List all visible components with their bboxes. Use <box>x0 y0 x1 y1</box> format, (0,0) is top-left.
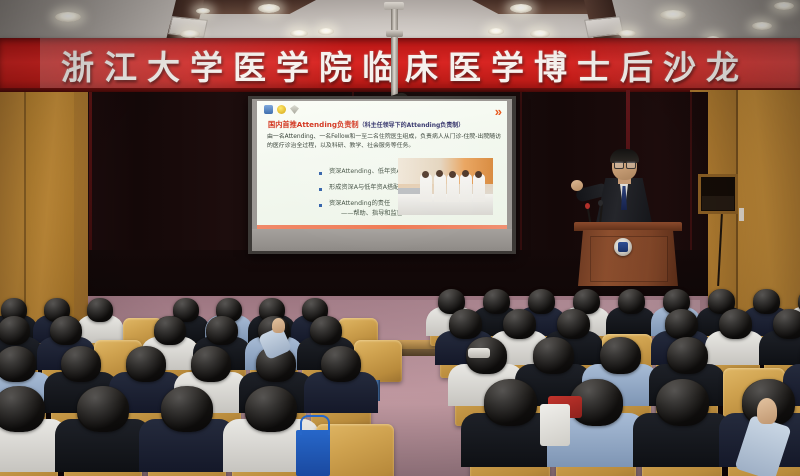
white-coat-on-seat <box>540 404 570 446</box>
audience-row-8 <box>0 0 800 476</box>
raised-hand <box>757 398 777 424</box>
hair-highlight <box>484 379 537 426</box>
shoe <box>468 348 490 358</box>
hair-highlight <box>656 379 709 426</box>
tote-bag-handle <box>300 415 330 435</box>
lecture-hall-photo: 浙江大学医学院临床医学博士后沙龙 » 国内首推Attending负责制（科主任领… <box>0 0 800 476</box>
audience-hand <box>272 318 285 333</box>
blue-tote-bag <box>296 430 330 476</box>
